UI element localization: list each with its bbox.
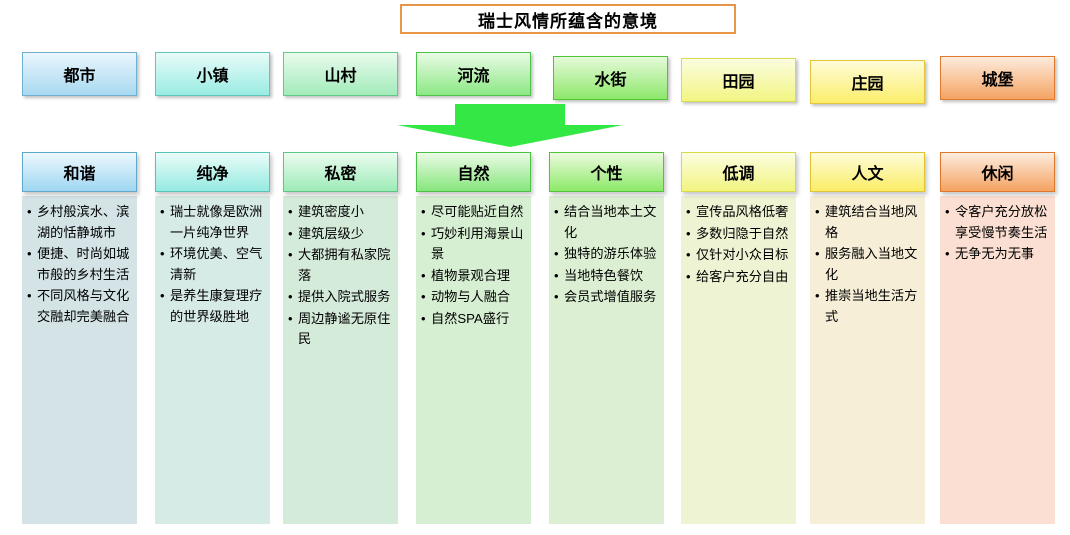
down-arrow-icon bbox=[395, 104, 625, 148]
attribute-column-header-label: 和谐 bbox=[63, 160, 95, 184]
attribute-column-header-7[interactable]: 人文 bbox=[810, 152, 925, 192]
bullet-item: 是养生康复理疗的世界级胜地 bbox=[159, 286, 266, 327]
bullet-item: 服务融入当地文化 bbox=[814, 244, 921, 285]
bullet-item: 瑞士就像是欧洲一片纯净世界 bbox=[159, 202, 266, 243]
attribute-column-header-8[interactable]: 休闲 bbox=[940, 152, 1055, 192]
bullet-item: 乡村般滨水、滨湖的恬静城市 bbox=[26, 202, 133, 243]
bullet-list: 乡村般滨水、滨湖的恬静城市便捷、时尚如城市般的乡村生活不同风格与文化交融却完美融… bbox=[26, 202, 133, 327]
attribute-column-body-7: 建筑结合当地风格服务融入当地文化推崇当地生活方式 bbox=[810, 196, 925, 524]
bullet-list: 令客户充分放松享受慢节奏生活无争无为无事 bbox=[944, 202, 1051, 265]
scene-chip-4[interactable]: 河流 bbox=[416, 52, 531, 96]
scene-chip-5[interactable]: 水街 bbox=[553, 56, 668, 100]
bullet-item: 宣传品风格低奢 bbox=[685, 202, 792, 223]
bullet-item: 建筑结合当地风格 bbox=[814, 202, 921, 243]
scene-chip-label: 水街 bbox=[594, 66, 626, 90]
bullet-item: 周边静谧无原住民 bbox=[287, 309, 394, 350]
attribute-column-body-8: 令客户充分放松享受慢节奏生活无争无为无事 bbox=[940, 196, 1055, 524]
bullet-item: 令客户充分放松享受慢节奏生活 bbox=[944, 202, 1051, 243]
diagram-title-text: 瑞士风情所蕴含的意境 bbox=[478, 7, 658, 32]
attribute-column-body-1: 乡村般滨水、滨湖的恬静城市便捷、时尚如城市般的乡村生活不同风格与文化交融却完美融… bbox=[22, 196, 137, 524]
scene-chip-label: 河流 bbox=[457, 62, 489, 86]
bullet-item: 大都拥有私家院落 bbox=[287, 245, 394, 286]
attribute-column-header-label: 纯净 bbox=[196, 160, 228, 184]
attribute-column-body-2: 瑞士就像是欧洲一片纯净世界环境优美、空气清新是养生康复理疗的世界级胜地 bbox=[155, 196, 270, 524]
scene-chip-label: 山村 bbox=[324, 62, 356, 86]
bullet-item: 仅针对小众目标 bbox=[685, 245, 792, 266]
attribute-column-header-label: 自然 bbox=[457, 160, 489, 184]
bullet-item: 会员式增值服务 bbox=[553, 287, 660, 308]
scene-chip-label: 城堡 bbox=[981, 66, 1013, 90]
attribute-column-body-4: 尽可能贴近自然巧妙利用海景山景植物景观合理动物与人融合自然SPA盛行 bbox=[416, 196, 531, 524]
attribute-column-header-1[interactable]: 和谐 bbox=[22, 152, 137, 192]
bullet-list: 瑞士就像是欧洲一片纯净世界环境优美、空气清新是养生康复理疗的世界级胜地 bbox=[159, 202, 266, 327]
scene-chip-6[interactable]: 田园 bbox=[681, 58, 796, 102]
bullet-item: 无争无为无事 bbox=[944, 244, 1051, 265]
bullet-item: 建筑密度小 bbox=[287, 202, 394, 223]
bullet-list: 建筑密度小建筑层级少大都拥有私家院落提供入院式服务周边静谧无原住民 bbox=[287, 202, 394, 350]
attribute-column-header-3[interactable]: 私密 bbox=[283, 152, 398, 192]
bullet-list: 宣传品风格低奢多数归隐于自然仅针对小众目标给客户充分自由 bbox=[685, 202, 792, 287]
bullet-item: 推崇当地生活方式 bbox=[814, 286, 921, 327]
attribute-column-header-label: 人文 bbox=[851, 160, 883, 184]
bullet-item: 建筑层级少 bbox=[287, 224, 394, 245]
attribute-column-header-4[interactable]: 自然 bbox=[416, 152, 531, 192]
bullet-item: 动物与人融合 bbox=[420, 287, 527, 308]
attribute-column-header-5[interactable]: 个性 bbox=[549, 152, 664, 192]
bullet-item: 便捷、时尚如城市般的乡村生活 bbox=[26, 244, 133, 285]
bullet-item: 提供入院式服务 bbox=[287, 287, 394, 308]
bullet-item: 环境优美、空气清新 bbox=[159, 244, 266, 285]
attribute-column-body-5: 结合当地本土文化独特的游乐体验当地特色餐饮会员式增值服务 bbox=[549, 196, 664, 524]
bullet-item: 给客户充分自由 bbox=[685, 267, 792, 288]
attribute-column-header-2[interactable]: 纯净 bbox=[155, 152, 270, 192]
bullet-item: 当地特色餐饮 bbox=[553, 266, 660, 287]
bullet-item: 结合当地本土文化 bbox=[553, 202, 660, 243]
attribute-column-header-label: 低调 bbox=[722, 160, 754, 184]
bullet-list: 结合当地本土文化独特的游乐体验当地特色餐饮会员式增值服务 bbox=[553, 202, 660, 308]
attribute-column-header-label: 个性 bbox=[590, 160, 622, 184]
bullet-list: 建筑结合当地风格服务融入当地文化推崇当地生活方式 bbox=[814, 202, 921, 327]
bullet-list: 尽可能贴近自然巧妙利用海景山景植物景观合理动物与人融合自然SPA盛行 bbox=[420, 202, 527, 329]
attribute-column-body-3: 建筑密度小建筑层级少大都拥有私家院落提供入院式服务周边静谧无原住民 bbox=[283, 196, 398, 524]
scene-chip-label: 小镇 bbox=[196, 62, 228, 86]
scene-chip-label: 田园 bbox=[722, 68, 754, 92]
bullet-item: 独特的游乐体验 bbox=[553, 244, 660, 265]
scene-chip-8[interactable]: 城堡 bbox=[940, 56, 1055, 100]
scene-chip-3[interactable]: 山村 bbox=[283, 52, 398, 96]
scene-chip-1[interactable]: 都市 bbox=[22, 52, 137, 96]
scene-chip-7[interactable]: 庄园 bbox=[810, 60, 925, 104]
attribute-column-header-6[interactable]: 低调 bbox=[681, 152, 796, 192]
scene-chip-2[interactable]: 小镇 bbox=[155, 52, 270, 96]
bullet-item: 尽可能贴近自然 bbox=[420, 202, 527, 223]
diagram-title: 瑞士风情所蕴含的意境 bbox=[400, 4, 736, 34]
bullet-item: 不同风格与文化交融却完美融合 bbox=[26, 286, 133, 327]
attribute-column-header-label: 休闲 bbox=[981, 160, 1013, 184]
diagram-canvas: 瑞士风情所蕴含的意境 都市小镇山村河流水街田园庄园城堡 乡村般滨水、滨湖的恬静城… bbox=[0, 0, 1070, 535]
bullet-item: 自然SPA盛行 bbox=[420, 309, 527, 330]
scene-chip-label: 都市 bbox=[63, 62, 95, 86]
attribute-column-header-label: 私密 bbox=[324, 160, 356, 184]
bullet-item: 多数归隐于自然 bbox=[685, 224, 792, 245]
attribute-column-body-6: 宣传品风格低奢多数归隐于自然仅针对小众目标给客户充分自由 bbox=[681, 196, 796, 524]
scene-chip-label: 庄园 bbox=[851, 70, 883, 94]
bullet-item: 植物景观合理 bbox=[420, 266, 527, 287]
bullet-item: 巧妙利用海景山景 bbox=[420, 224, 527, 265]
